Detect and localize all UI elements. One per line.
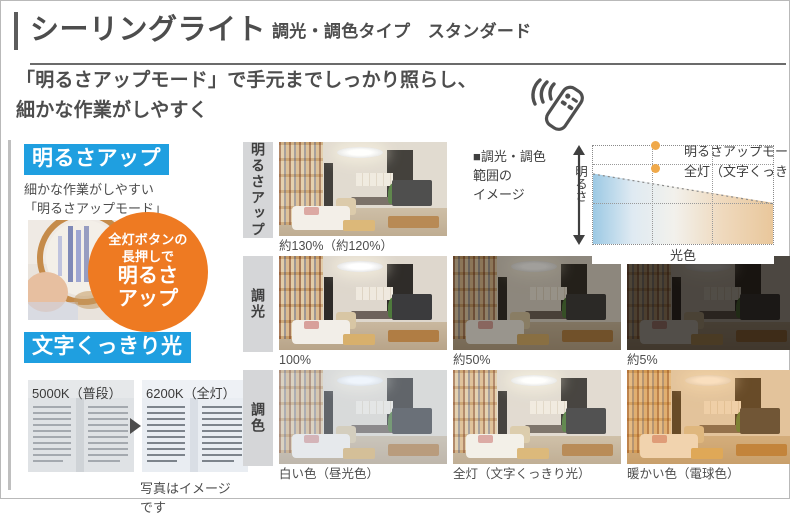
book-photo-6200k: 6200K（全灯） (142, 380, 248, 472)
room-photo-130 (279, 142, 447, 236)
scene-caption: 白い色（昼光色） (279, 466, 447, 482)
chart-plot-area (592, 145, 774, 245)
row-label-color-tuning: 調色 (243, 370, 273, 466)
scene-cell: 全灯（文字くっきり光） (453, 370, 621, 482)
scene-caption: 約130%（約120%） (279, 238, 447, 254)
header-accent-bar (14, 12, 18, 50)
chart-legend-line-1: ■調光・調色 (473, 147, 565, 166)
scene-caption: 約50% (453, 352, 621, 368)
row-label-dimming: 調光 (243, 256, 273, 352)
chart-point-brightness-up (651, 141, 660, 150)
room-photo-50 (453, 256, 621, 350)
scene-caption: 全灯（文字くっきり光） (453, 466, 621, 482)
scene-cell: 100% (279, 256, 447, 368)
badge-brightness-up: 明るさアップ (24, 144, 169, 175)
room-photo-daylight (279, 370, 447, 464)
chart-point-full-light (651, 164, 660, 173)
left-feature-card: 明るさアップ 細かな作業がしやすい 「明るさアップモード」 (8, 140, 238, 490)
comparison-arrow-icon (130, 418, 141, 434)
book-photo-6200k-label: 6200K（全灯） (146, 383, 236, 402)
chart-gridline-h2 (593, 203, 773, 204)
chart-legend-line-2: 範囲の (473, 166, 565, 185)
grid-row-color-tuning: 調色 白い色（昼光色） (243, 370, 788, 482)
dimming-range-chart: ■調光・調色 範囲の イメージ 明るさ 明るさ (470, 135, 788, 263)
scene-cell: 約5% (627, 256, 790, 368)
lead-copy: 「明るさアップモード」で手元までしっかり照らし、 細かな作業がしやすく (16, 66, 536, 126)
book-photo-5000k-label: 5000K（普段） (32, 383, 122, 402)
scene-caption: 100% (279, 352, 447, 368)
chart-gridline-v1 (652, 146, 653, 244)
scene-cell: 白い色（昼光色） (279, 370, 447, 482)
chart-point-label-full-light: 全灯（文字くっきり光） (684, 161, 790, 180)
room-photo-5 (627, 256, 790, 350)
left-card-desc-line-1: 細かな作業がしやすい (24, 180, 167, 199)
grid-row-dimming: 調光 100% (243, 256, 788, 368)
page-title: シーリングライト (30, 10, 266, 50)
chart-y-axis-label: 明るさ (569, 165, 589, 203)
remote-control-icon (516, 74, 592, 132)
scene-cell: 暖かい色（電球色） (627, 370, 790, 482)
callout-circle: 全灯ボタンの 長押しで 明るさ アップ (88, 212, 208, 332)
header-divider (30, 63, 786, 65)
callout-line-1: 全灯ボタンの (88, 231, 208, 248)
scene-caption: 約5% (627, 352, 790, 368)
row-label-dimming-text: 調光 (243, 288, 273, 320)
chart-legend: ■調光・調色 範囲の イメージ (473, 147, 565, 204)
lead-line-1: 「明るさアップモード」で手元までしっかり照らし、 (16, 66, 536, 96)
room-photo-full-clear (453, 370, 621, 464)
callout-line-4: アップ (88, 288, 208, 311)
badge-text-clear: 文字くっきり光 (24, 332, 191, 363)
photo-disclaimer: 写真はイメージです (140, 478, 238, 516)
callout-line-2: 長押しで (88, 248, 208, 265)
scene-cell: 約50% (453, 256, 621, 368)
row-label-brightness-up-text: 明るさアップ (243, 142, 273, 238)
chart-point-label-brightness-up: 明るさアップモード (684, 141, 790, 160)
row-label-color-tuning-text: 調色 (243, 402, 273, 434)
left-card-rail (8, 140, 11, 490)
page-subtitle: 調光・調色タイプ スタンダード (272, 19, 532, 45)
scene-caption: 暖かい色（電球色） (627, 466, 790, 482)
page-header: シーリングライト 調光・調色タイプ スタンダード (14, 8, 776, 56)
row-label-brightness-up: 明るさアップ (243, 142, 273, 238)
chart-x-axis-label: 光色 (592, 245, 774, 264)
product-feature-page: シーリングライト 調光・調色タイプ スタンダード 「明るさアップモード」で手元ま… (0, 0, 790, 499)
book-photo-5000k: 5000K（普段） (28, 380, 134, 472)
scene-cell: 約130%（約120%） (279, 142, 447, 254)
callout-line-3: 明るさ (88, 265, 208, 288)
room-photo-warm (627, 370, 790, 464)
room-photo-100 (279, 256, 447, 350)
chart-legend-line-3: イメージ (473, 185, 565, 204)
lead-line-2: 細かな作業がしやすく (16, 96, 536, 126)
